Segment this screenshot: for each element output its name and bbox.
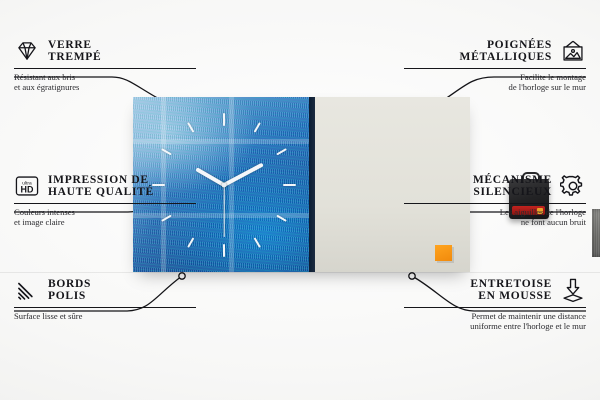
- callout-title-line-2: HAUTE QUALITÉ: [48, 186, 154, 199]
- callout-title-line-1: ENTRETOISE: [470, 278, 552, 291]
- callout-sub-line-2: uniforme entre l'horloge et le mur: [404, 321, 586, 331]
- callout-rule: [14, 307, 196, 308]
- callout-poignees-metalliques: POIGNÉES MÉTALLIQUES Facilite le montage…: [404, 38, 586, 93]
- clock-second-hand: [223, 185, 224, 237]
- metal-hanger-plate: [592, 209, 600, 257]
- callout-sub-line-2: de l'horloge sur le mur: [404, 82, 586, 92]
- callout-rule: [404, 307, 586, 308]
- callout-title-line-2: EN MOUSSE: [470, 290, 552, 303]
- foam-spacer: [435, 245, 452, 261]
- callout-sub-line-1: Surface lisse et sûre: [14, 311, 196, 321]
- callout-title-line-2: MÉTALLIQUES: [460, 51, 552, 64]
- callout-title-line-2: TREMPÉ: [48, 51, 101, 64]
- callout-title-line-1: BORDS: [48, 278, 91, 291]
- gear-icon: [560, 173, 586, 199]
- callout-title-line-1: VERRE: [48, 39, 101, 52]
- infographic-canvas: VERRE TREMPÉ Résistant aux bris et aux é…: [0, 0, 600, 400]
- wall-frame-icon: [560, 38, 586, 64]
- callout-sub-line-2: et image claire: [14, 217, 196, 227]
- ultra-hd-icon: ultra HD: [14, 173, 40, 199]
- callout-mecanisme-silencieux: MÉCANISME SILENCIEUX Les aiguilles de l'…: [404, 173, 586, 228]
- clock-center-cap: [222, 182, 227, 187]
- callout-title-line-1: POIGNÉES: [460, 39, 552, 52]
- polished-edges-icon: [14, 277, 40, 303]
- callout-title-line-2: SILENCIEUX: [473, 186, 552, 199]
- callout-impression-haute-qualite: ultra HD IMPRESSION DE HAUTE QUALITÉ Cou…: [14, 173, 196, 228]
- callout-rule: [404, 68, 586, 69]
- down-arrow-pad-icon: [560, 277, 586, 303]
- ultra-hd-icon-bottom-text: HD: [21, 185, 34, 195]
- callout-sub-line-1: Les aiguilles de l'horloge: [404, 207, 586, 217]
- callout-entretoise-en-mousse: ENTRETOISE EN MOUSSE Permet de maintenir…: [404, 277, 586, 332]
- callout-sub-line-2: ne font aucun bruit: [404, 217, 586, 227]
- callout-rule: [14, 203, 196, 204]
- callout-rule: [404, 203, 586, 204]
- callout-title-line-1: MÉCANISME: [473, 174, 552, 187]
- callout-sub-line-1: Couleurs intenses: [14, 207, 196, 217]
- callout-verre-trempe: VERRE TREMPÉ Résistant aux bris et aux é…: [14, 38, 196, 93]
- callout-title-line-2: POLIS: [48, 290, 91, 303]
- callout-title-line-1: IMPRESSION DE: [48, 174, 154, 187]
- callout-sub-line-1: Facilite le montage: [404, 72, 586, 82]
- surface-line: [0, 272, 600, 273]
- callout-sub-line-2: et aux égratignures: [14, 82, 196, 92]
- diamond-icon: [14, 38, 40, 64]
- callout-sub-line-1: Permet de maintenir une distance: [404, 311, 586, 321]
- callout-bords-polis: BORDS POLIS Surface lisse et sûre: [14, 277, 196, 321]
- callout-rule: [14, 68, 196, 69]
- callout-sub-line-1: Résistant aux bris: [14, 72, 196, 82]
